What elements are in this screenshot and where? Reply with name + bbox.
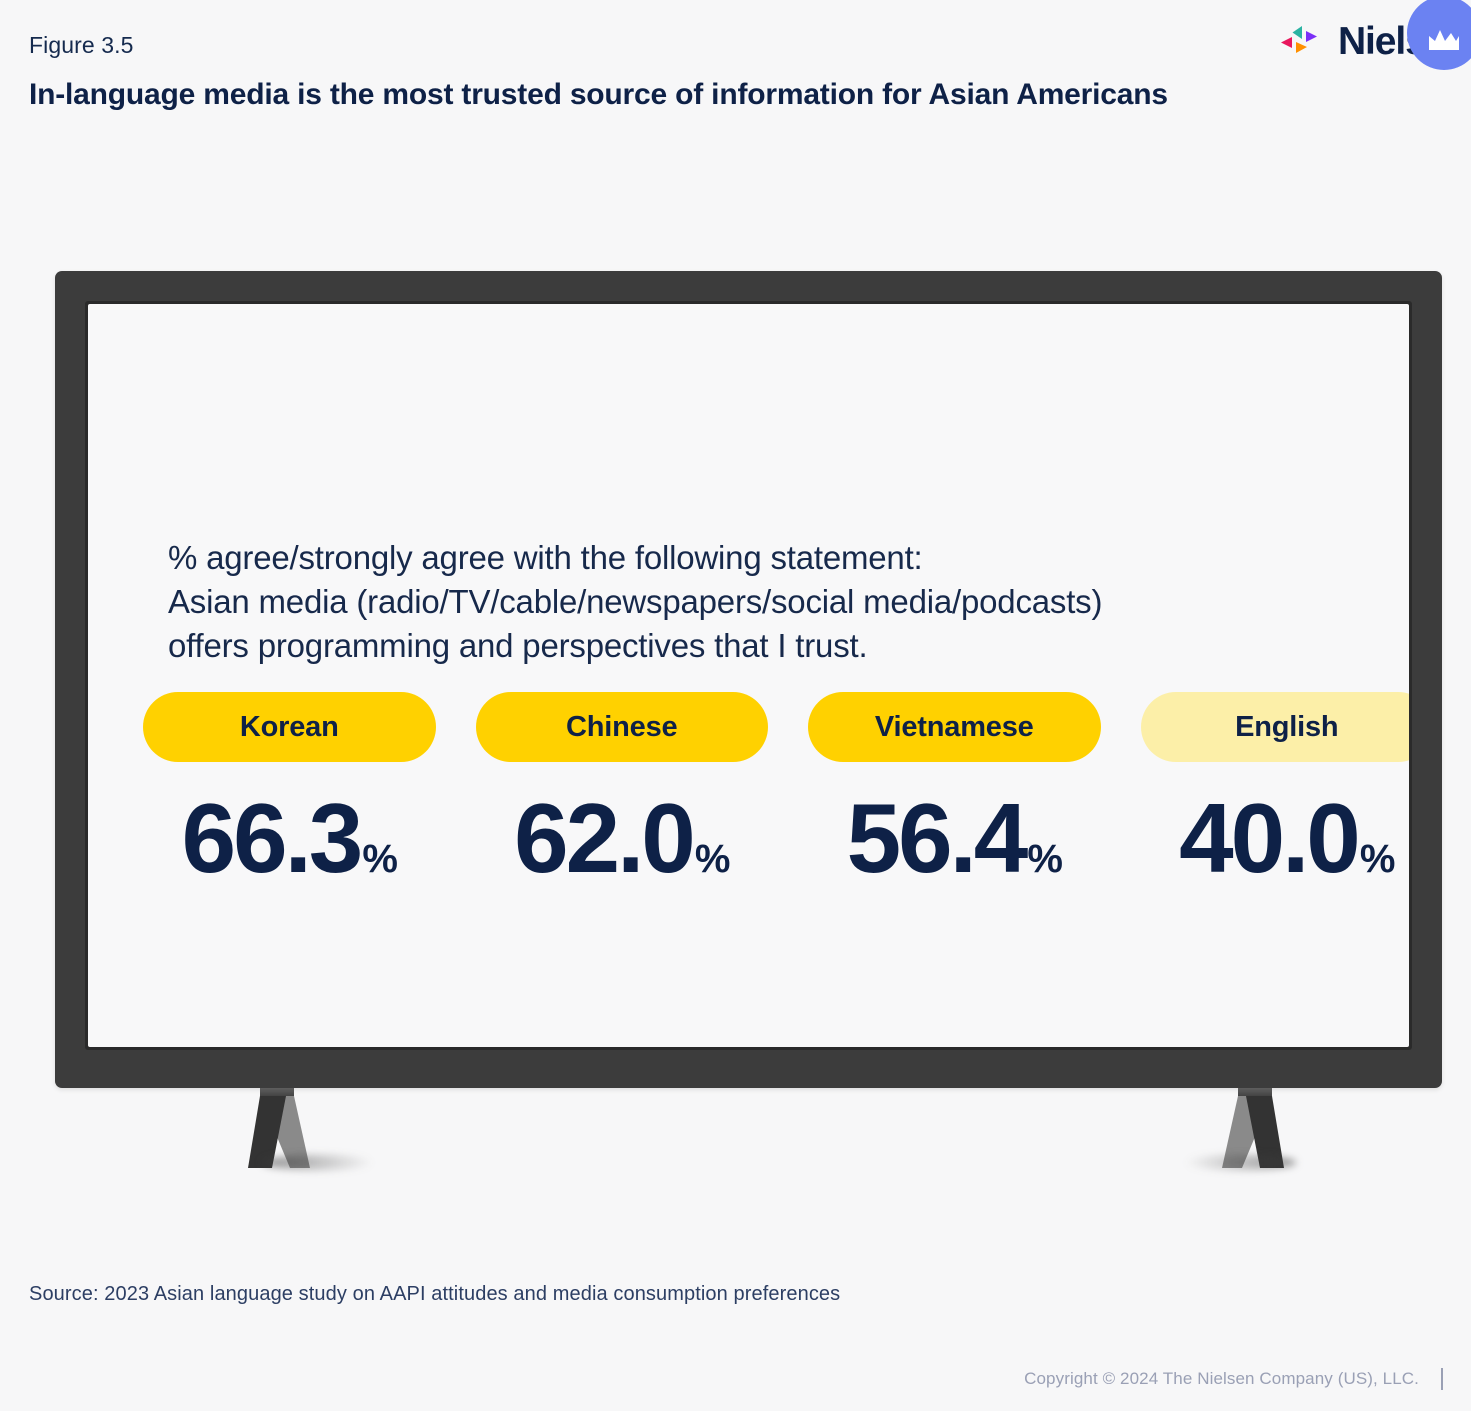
copyright-bar: Copyright © 2024 The Nielsen Company (US… xyxy=(1024,1368,1443,1390)
source-note: Source: 2023 Asian language study on AAP… xyxy=(29,1283,840,1306)
tv-screen: % agree/strongly agree with the followin… xyxy=(88,304,1409,1047)
stat-value-chinese: 62.0 % xyxy=(514,789,729,887)
tv-bezel: % agree/strongly agree with the followin… xyxy=(55,271,1442,1088)
stat-value-vietnamese: 56.4 % xyxy=(847,789,1062,887)
percent-symbol-vietnamese: % xyxy=(1027,839,1062,879)
stat-value-english: 40.0 % xyxy=(1179,789,1394,887)
tv-illustration: % agree/strongly agree with the followin… xyxy=(0,0,1471,1411)
stat-column-korean: Korean 66.3 % xyxy=(143,692,436,887)
survey-statement: % agree/strongly agree with the followin… xyxy=(168,536,1409,668)
statement-line-2: Asian media (radio/TV/cable/newspapers/s… xyxy=(168,580,1409,624)
stat-number-english: 40.0 xyxy=(1179,789,1358,887)
copyright-text: Copyright © 2024 The Nielsen Company (US… xyxy=(1024,1369,1419,1389)
percent-symbol-korean: % xyxy=(362,839,397,879)
copyright-divider xyxy=(1441,1368,1443,1390)
language-pill-korean: Korean xyxy=(143,692,436,762)
stats-row: Korean 66.3 % Chinese 62.0 % Vietnamese xyxy=(143,692,1409,887)
statement-line-1: % agree/strongly agree with the followin… xyxy=(168,536,1409,580)
stat-column-english: English 40.0 % xyxy=(1141,692,1410,887)
stat-number-korean: 66.3 xyxy=(182,789,361,887)
tv-leg-shadow-right xyxy=(1184,1155,1296,1170)
statement-line-3: offers programming and perspectives that… xyxy=(168,624,1409,668)
language-pill-english: English xyxy=(1141,692,1410,762)
stat-number-vietnamese: 56.4 xyxy=(847,789,1026,887)
stat-column-chinese: Chinese 62.0 % xyxy=(476,692,769,887)
language-pill-chinese: Chinese xyxy=(476,692,769,762)
percent-symbol-chinese: % xyxy=(695,839,730,879)
stat-value-korean: 66.3 % xyxy=(182,789,397,887)
language-pill-vietnamese: Vietnamese xyxy=(808,692,1101,762)
percent-symbol-english: % xyxy=(1360,839,1395,879)
stat-number-chinese: 62.0 xyxy=(514,789,693,887)
stat-column-vietnamese: Vietnamese 56.4 % xyxy=(808,692,1101,887)
tv-leg-shadow-left xyxy=(262,1155,374,1170)
